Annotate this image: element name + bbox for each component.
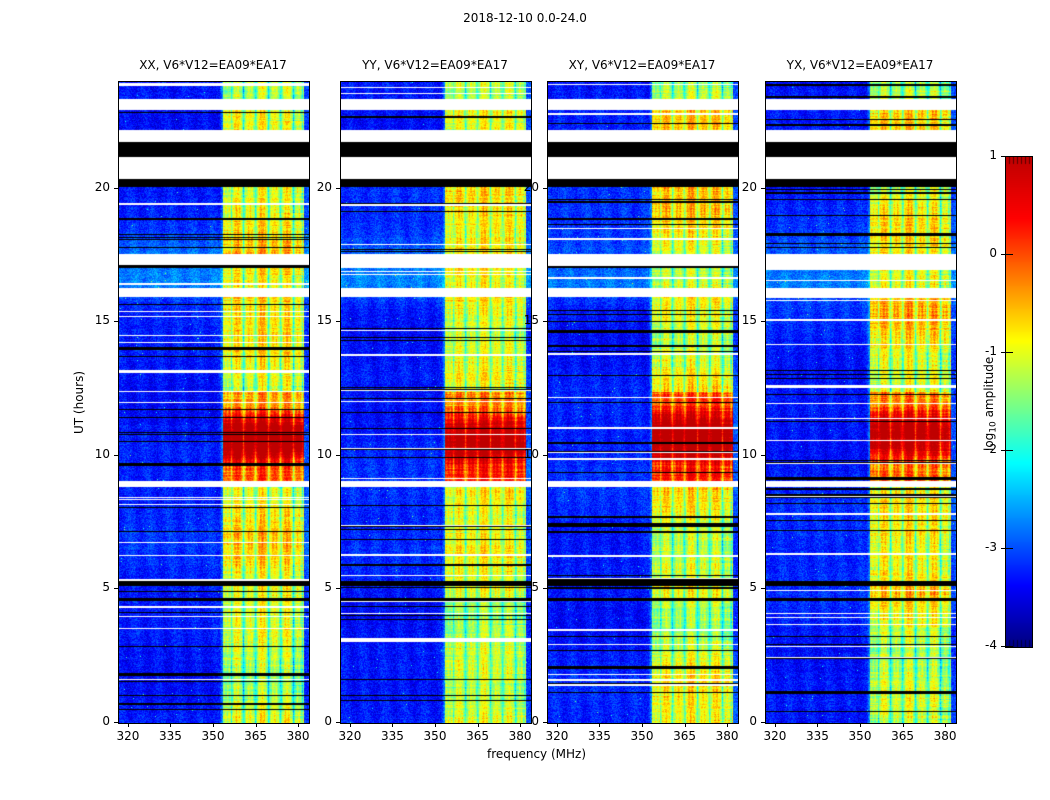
spectrum-panel-xx xyxy=(118,81,310,724)
colorbar-tick-label: -3 xyxy=(957,540,997,554)
y-tick-mark xyxy=(114,188,118,189)
colorbar-tick-mark-inner xyxy=(1006,548,1013,549)
colorbar-tick-mark xyxy=(1001,548,1005,549)
y-tick-mark xyxy=(543,722,547,723)
y-tick-mark xyxy=(336,588,340,589)
y-tick-label: 5 xyxy=(717,580,757,594)
y-tick-label: 20 xyxy=(292,180,332,194)
y-tick-mark xyxy=(114,722,118,723)
y-tick-label: 20 xyxy=(717,180,757,194)
spectrum-panel-xy xyxy=(547,81,739,724)
y-tick-label: 10 xyxy=(70,447,110,461)
colorbar-tick-mark xyxy=(1001,254,1005,255)
y-tick-mark xyxy=(543,321,547,322)
colorbar-tick-mark-inner xyxy=(1006,646,1013,647)
x-tick-mark xyxy=(350,723,351,727)
colorbar-label-subscript: 10 xyxy=(988,421,998,432)
colorbar-tick-mark-inner xyxy=(1006,450,1013,451)
x-tick-label: 380 xyxy=(273,729,323,743)
y-tick-mark xyxy=(761,722,765,723)
colorbar xyxy=(1005,156,1033,648)
y-tick-label: 15 xyxy=(499,313,539,327)
y-tick-mark xyxy=(336,722,340,723)
y-axis-label: UT (hours) xyxy=(72,370,86,433)
x-tick-mark xyxy=(685,723,686,727)
y-tick-label: 0 xyxy=(70,714,110,728)
colorbar-tick-mark-inner xyxy=(1006,254,1013,255)
x-tick-mark xyxy=(775,723,776,727)
colorbar-tick-mark xyxy=(1001,646,1005,647)
x-tick-mark xyxy=(435,723,436,727)
colorbar-tick-mark-inner xyxy=(1006,352,1013,353)
y-tick-label: 5 xyxy=(70,580,110,594)
colorbar-tick-mark xyxy=(1001,450,1005,451)
y-tick-label: 5 xyxy=(499,580,539,594)
x-tick-mark xyxy=(860,723,861,727)
x-tick-mark xyxy=(170,723,171,727)
x-tick-label: 380 xyxy=(920,729,970,743)
y-tick-mark xyxy=(543,455,547,456)
y-tick-mark xyxy=(761,588,765,589)
y-tick-mark xyxy=(114,455,118,456)
x-tick-label: 380 xyxy=(702,729,752,743)
y-tick-label: 20 xyxy=(70,180,110,194)
y-tick-label: 0 xyxy=(499,714,539,728)
dynamic-spectrum-image-yy xyxy=(341,82,531,723)
figure-suptitle: 2018-12-10 0.0-24.0 xyxy=(0,11,1050,25)
y-tick-label: 0 xyxy=(292,714,332,728)
x-tick-mark xyxy=(256,723,257,727)
x-tick-mark xyxy=(599,723,600,727)
x-tick-mark xyxy=(557,723,558,727)
y-tick-mark xyxy=(543,588,547,589)
dynamic-spectrum-image-yx xyxy=(766,82,956,723)
colorbar-tick-mark xyxy=(1001,352,1005,353)
x-tick-mark xyxy=(903,723,904,727)
x-tick-mark xyxy=(213,723,214,727)
spectrum-panel-yy xyxy=(340,81,532,724)
y-tick-label: 15 xyxy=(717,313,757,327)
colorbar-label: log10 amplitude xyxy=(982,357,998,451)
y-tick-mark xyxy=(114,588,118,589)
y-tick-label: 20 xyxy=(499,180,539,194)
colorbar-gradient xyxy=(1005,156,1033,648)
colorbar-tick-label: 0 xyxy=(957,246,997,260)
colorbar-tick-mark xyxy=(1001,156,1005,157)
dynamic-spectrum-image-xy xyxy=(548,82,738,723)
y-tick-mark xyxy=(543,188,547,189)
y-tick-mark xyxy=(336,321,340,322)
y-tick-mark xyxy=(761,321,765,322)
colorbar-tick-mark-inner xyxy=(1006,156,1013,157)
colorbar-tick-label: -4 xyxy=(957,638,997,652)
dynamic-spectrum-image-xx xyxy=(119,82,309,723)
y-tick-mark xyxy=(761,188,765,189)
colorbar-tick-label: 1 xyxy=(957,148,997,162)
colorbar-label-rest: amplitude xyxy=(982,357,996,421)
x-tick-mark xyxy=(642,723,643,727)
x-tick-mark xyxy=(128,723,129,727)
y-tick-mark xyxy=(114,321,118,322)
x-tick-mark xyxy=(945,723,946,727)
x-tick-mark xyxy=(478,723,479,727)
y-tick-label: 15 xyxy=(70,313,110,327)
y-tick-mark xyxy=(761,455,765,456)
y-tick-label: 10 xyxy=(292,447,332,461)
y-tick-mark xyxy=(336,455,340,456)
y-tick-label: 15 xyxy=(292,313,332,327)
x-axis-label: frequency (MHz) xyxy=(118,747,955,761)
colorbar-label-base: log xyxy=(982,433,996,451)
y-tick-mark xyxy=(336,188,340,189)
spectrum-panel-yx xyxy=(765,81,957,724)
y-tick-label: 0 xyxy=(717,714,757,728)
x-tick-mark xyxy=(817,723,818,727)
y-tick-label: 10 xyxy=(717,447,757,461)
y-tick-label: 5 xyxy=(292,580,332,594)
panel-title-yx: YX, V6*V12=EA09*EA17 xyxy=(720,58,1000,72)
figure-canvas: 2018-12-10 0.0-24.0 XX, V6*V12=EA09*EA17… xyxy=(0,0,1050,800)
y-tick-label: 10 xyxy=(499,447,539,461)
x-tick-mark xyxy=(392,723,393,727)
